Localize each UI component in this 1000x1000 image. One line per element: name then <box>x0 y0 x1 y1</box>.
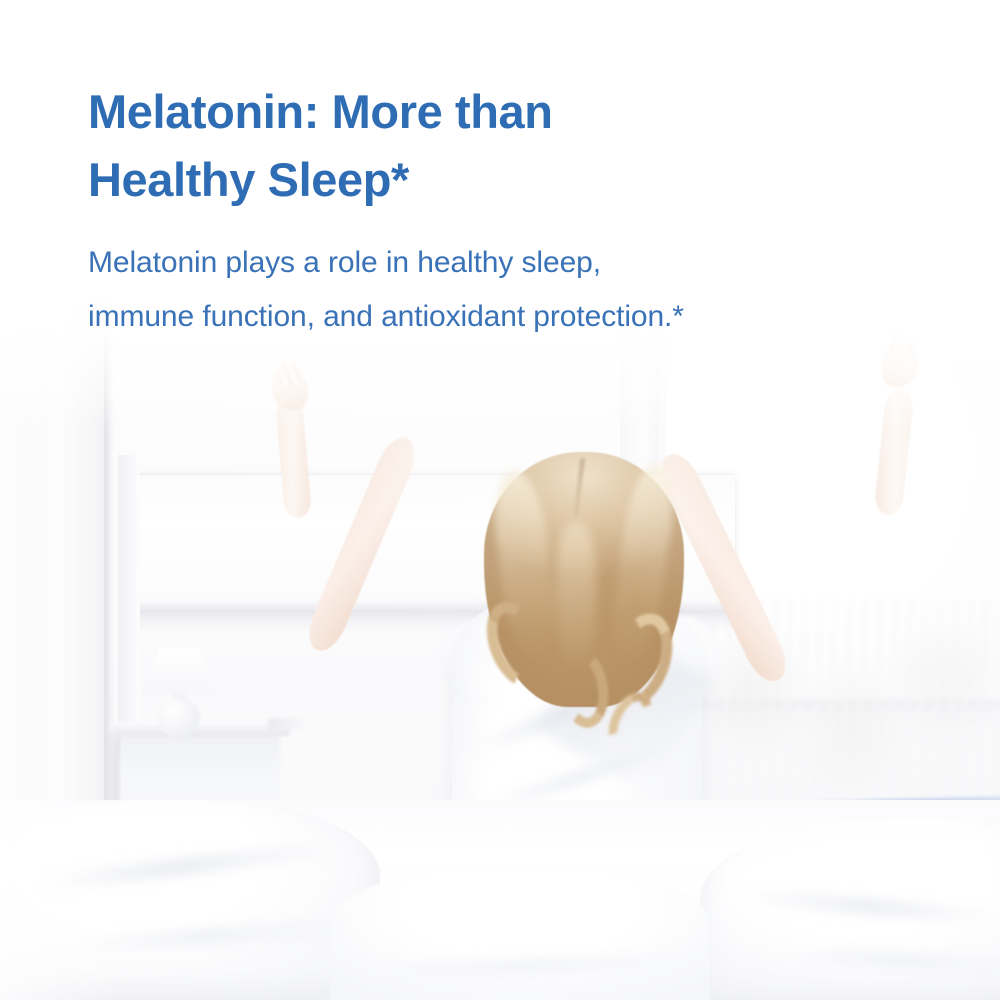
forearm-left <box>275 397 312 519</box>
marketing-banner: Melatonin: More than Healthy Sleep* Mela… <box>0 0 1000 1000</box>
page-subtitle: Melatonin plays a role in healthy sleep,… <box>88 236 928 344</box>
forearm-right <box>874 389 915 516</box>
page-title: Melatonin: More than Healthy Sleep* <box>88 78 928 214</box>
text-block: Melatonin: More than Healthy Sleep* Mela… <box>88 78 928 344</box>
duvet-center <box>330 870 710 1000</box>
upper-arm-left <box>301 432 422 657</box>
hair-highlight-center <box>556 520 596 670</box>
duvet-left <box>0 800 380 1000</box>
